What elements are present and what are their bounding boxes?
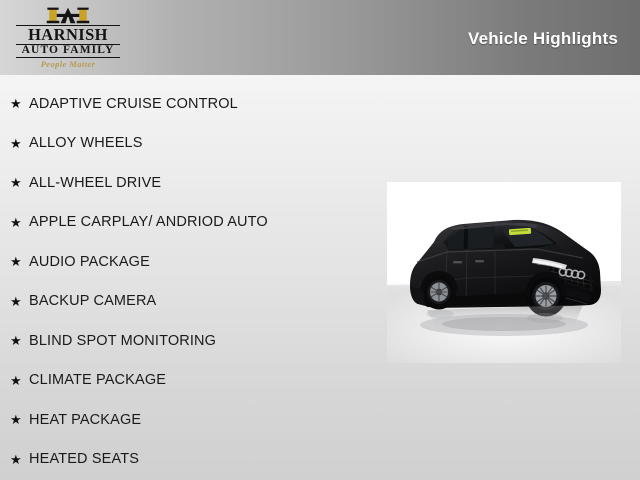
feature-label: APPLE CARPLAY/ ANDRIOD AUTO (29, 214, 268, 230)
logo-name-primary: HARNISH (16, 25, 120, 45)
star-icon: ★ (10, 216, 29, 229)
star-icon: ★ (10, 295, 29, 308)
feature-label: HEATED SEATS (29, 451, 139, 467)
black-audi-suv-image (387, 182, 621, 363)
star-icon: ★ (10, 334, 29, 347)
star-icon: ★ (10, 453, 29, 466)
list-item: ★ CLIMATE PACKAGE (0, 361, 380, 401)
feature-label: ADAPTIVE CRUISE CONTROL (29, 96, 238, 112)
feature-label: ALL-WHEEL DRIVE (29, 175, 161, 191)
list-item: ★ HEATED SEATS (0, 440, 380, 480)
list-item: ★ AUDIO PACKAGE (0, 242, 380, 282)
star-icon: ★ (10, 97, 29, 110)
feature-label: AUDIO PACKAGE (29, 254, 150, 270)
list-item: ★ ADAPTIVE CRUISE CONTROL (0, 84, 380, 124)
star-icon: ★ (10, 374, 29, 387)
list-item: ★ APPLE CARPLAY/ ANDRIOD AUTO (0, 203, 380, 243)
list-item: ★ ALL-WHEEL DRIVE (0, 163, 380, 203)
star-icon: ★ (10, 255, 29, 268)
feature-label: CLIMATE PACKAGE (29, 372, 166, 388)
vehicle-highlights-page: HARNISH AUTO FAMILY People Matter Vehicl… (0, 0, 640, 480)
feature-label: BACKUP CAMERA (29, 293, 156, 309)
star-icon: ★ (10, 413, 29, 426)
vehicle-highlights-list: ★ ADAPTIVE CRUISE CONTROL ★ ALLOY WHEELS… (0, 84, 380, 479)
vehicle-photo[interactable] (387, 182, 621, 363)
feature-label: HEAT PACKAGE (29, 412, 141, 428)
logo-name-secondary: AUTO FAMILY (16, 45, 120, 58)
harnish-auto-family-logo[interactable]: HARNISH AUTO FAMILY People Matter (14, 7, 122, 69)
star-icon: ★ (10, 137, 29, 150)
list-item: ★ HEAT PACKAGE (0, 400, 380, 440)
logo-tagline: People Matter (41, 59, 96, 69)
list-item: ★ BACKUP CAMERA (0, 282, 380, 322)
page-header: HARNISH AUTO FAMILY People Matter Vehicl… (0, 0, 640, 75)
feature-label: ALLOY WHEELS (29, 135, 143, 151)
harnish-h-monogram-icon (33, 7, 103, 25)
list-item: ★ BLIND SPOT MONITORING (0, 321, 380, 361)
list-item: ★ ALLOY WHEELS (0, 124, 380, 164)
star-icon: ★ (10, 176, 29, 189)
page-title: Vehicle Highlights (468, 29, 618, 49)
feature-label: BLIND SPOT MONITORING (29, 333, 216, 349)
